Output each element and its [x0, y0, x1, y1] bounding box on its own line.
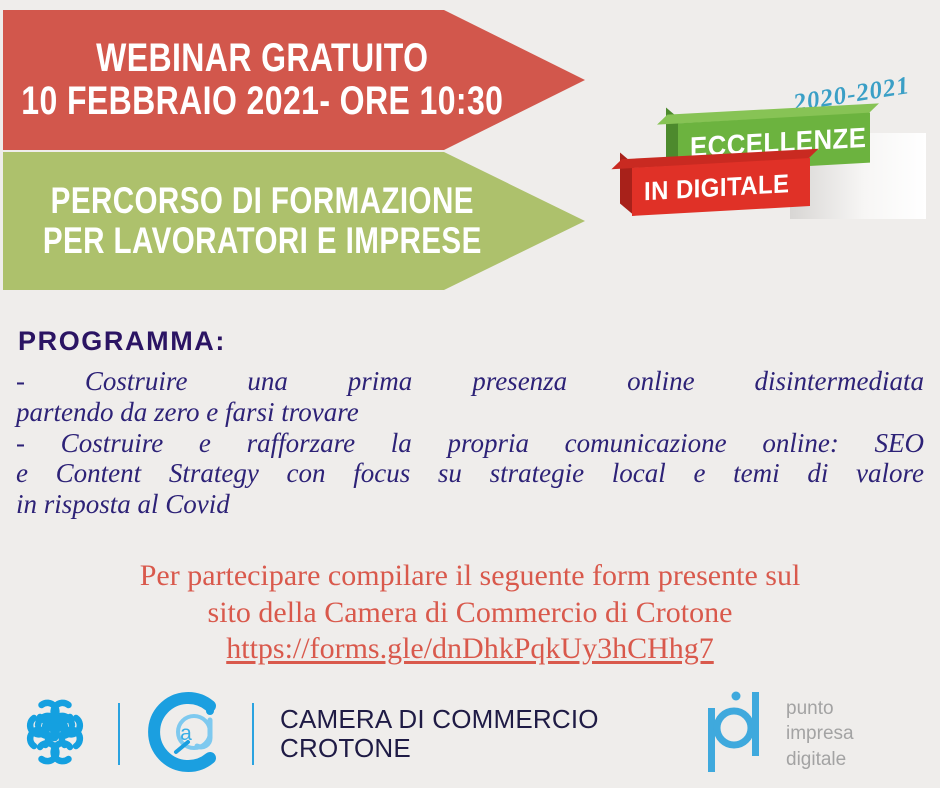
logo-red-block: IN DIGITALE	[632, 158, 810, 216]
svg-text:a: a	[180, 722, 192, 745]
footer: a CAMERA DI COMMERCIO CROTONE	[0, 680, 940, 788]
registration-form-link[interactable]: https://forms.gle/dnDhkPqkUy3hCHhg7	[0, 631, 940, 668]
eccellenze-in-digitale-logo: 2020-2021 ECCELLENZE IN DIGITALE	[610, 85, 940, 235]
footer-divider-2	[252, 703, 254, 765]
programma-line-4: e Content Strategy con focus su strategi…	[16, 458, 924, 489]
camere-commercio-network-icon	[12, 689, 98, 780]
banner-red-line-2: 10 FEBBRAIO 2021- ORE 10:30	[21, 80, 503, 123]
camera-commercio-wordmark: CAMERA DI COMMERCIO CROTONE	[280, 705, 599, 763]
programma-line-3: - Costruire e rafforzare la propria comu…	[16, 428, 924, 459]
banner-green-line-2: PER LAVORATORI E IMPRESE	[43, 221, 482, 261]
participation-line-2: sito della Camera di Commercio di Croton…	[0, 595, 940, 632]
programma-heading: PROGRAMMA:	[18, 326, 226, 357]
logo-in-digitale-label: IN DIGITALE	[644, 168, 789, 207]
programma-line-1: - Costruire una prima presenza online di…	[16, 366, 924, 397]
pid-line-2: impresa	[786, 721, 854, 746]
banner-red-line-1: WEBINAR GRATUITO	[21, 37, 503, 80]
camera-commercio-line-2: CROTONE	[280, 734, 599, 763]
participation-block: Per partecipare compilare il seguente fo…	[0, 558, 940, 668]
programma-body: - Costruire una prima presenza online di…	[16, 366, 924, 520]
banner-percorso-formazione: PERCORSO DI FORMAZIONE PER LAVORATORI E …	[3, 152, 585, 290]
banner-green-text: PERCORSO DI FORMAZIONE PER LAVORATORI E …	[43, 181, 546, 261]
poster-canvas: WEBINAR GRATUITO 10 FEBBRAIO 2021- ORE 1…	[0, 0, 940, 788]
pid-line-3: digitale	[786, 747, 854, 772]
footer-pid-group: punto impresa digitale	[700, 680, 854, 788]
camera-commercio-line-1: CAMERA DI COMMERCIO	[280, 705, 599, 734]
footer-camera-commercio-group: a CAMERA DI COMMERCIO CROTONE	[12, 680, 599, 788]
pid-line-1: punto	[786, 696, 854, 721]
footer-divider-1	[118, 703, 120, 765]
banner-red-text: WEBINAR GRATUITO 10 FEBBRAIO 2021- ORE 1…	[21, 37, 567, 123]
programma-line-2: partendo da zero e farsi trovare	[16, 397, 924, 428]
punto-impresa-digitale-icon	[700, 686, 774, 783]
programma-line-5: in risposta al Covid	[16, 489, 924, 520]
banner-green-line-1: PERCORSO DI FORMAZIONE	[43, 181, 482, 221]
banner-webinar-date: WEBINAR GRATUITO 10 FEBBRAIO 2021- ORE 1…	[3, 10, 585, 150]
cciaa-monogram-icon: a	[140, 686, 232, 783]
pid-wordmark: punto impresa digitale	[786, 696, 854, 771]
participation-line-1: Per partecipare compilare il seguente fo…	[0, 558, 940, 595]
